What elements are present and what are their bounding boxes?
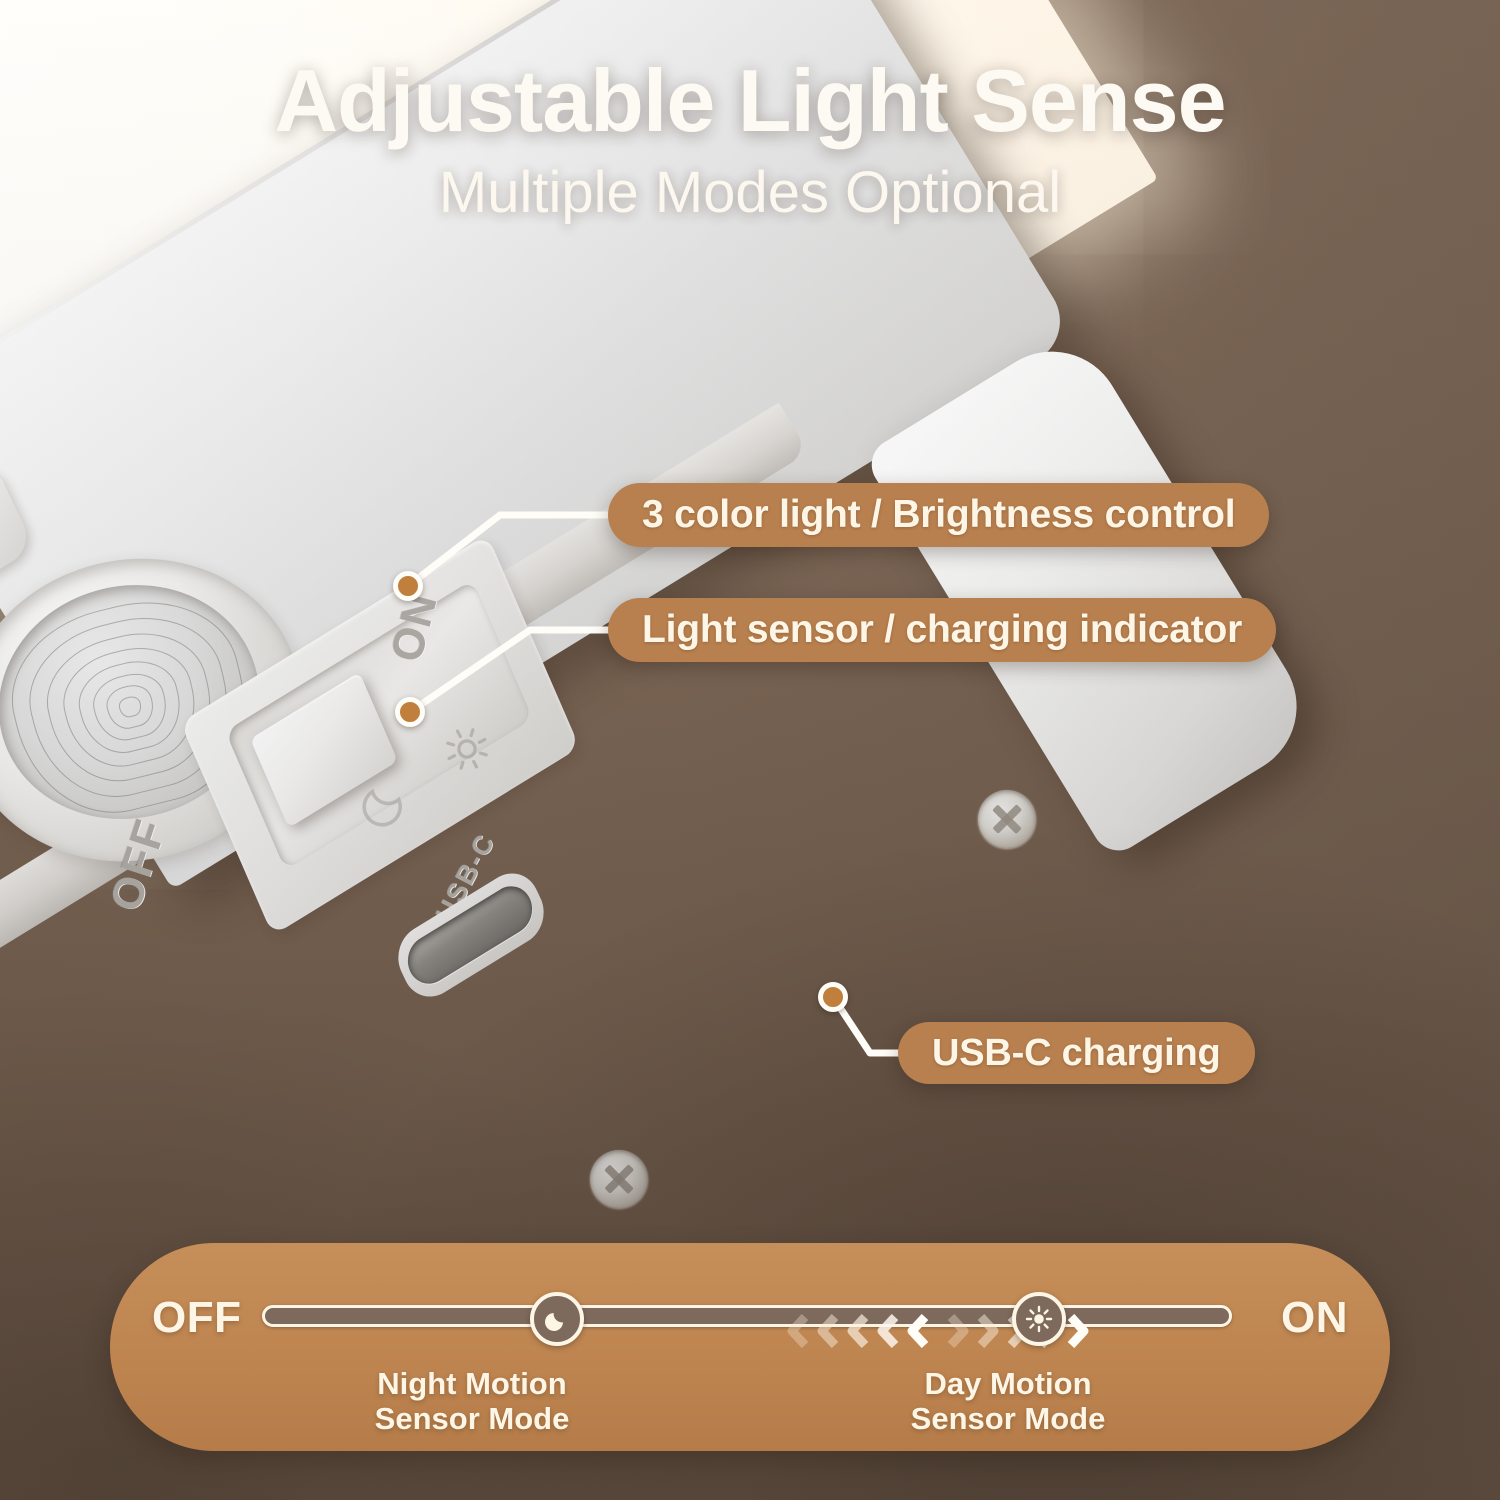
callout-label: Light sensor / charging indicator: [642, 608, 1242, 652]
callout-label: USB-C charging: [932, 1032, 1221, 1075]
chevron-right-icon: [945, 1314, 971, 1348]
chevron-left-group: [785, 1314, 931, 1348]
callout-light-sensor: Light sensor / charging indicator: [608, 598, 1276, 662]
page-title: Adjustable Light Sense: [0, 54, 1500, 147]
chevron-left-icon: [905, 1314, 931, 1348]
infographic-canvas: ON OFF USB-C Adjus: [0, 0, 1500, 1500]
slider-track[interactable]: [262, 1305, 1232, 1327]
callout-anchor-dot: [818, 982, 848, 1012]
chevron-right-icon: [975, 1314, 1001, 1348]
mode-slider[interactable]: OFF ON: [110, 1287, 1390, 1339]
phillips-screw-icon: [590, 1150, 648, 1208]
title-block: Adjustable Light Sense Multiple Modes Op…: [0, 54, 1500, 225]
callout-label: 3 color light / Brightness control: [642, 493, 1235, 537]
slider-marker-night[interactable]: [530, 1292, 584, 1346]
chevron-right-icon: [1065, 1314, 1091, 1348]
callout-anchor-dot: [395, 697, 425, 727]
chevron-left-icon: [815, 1314, 841, 1348]
moon-icon: [542, 1304, 572, 1334]
chevron-left-icon: [845, 1314, 871, 1348]
page-subtitle: Multiple Modes Optional: [0, 161, 1500, 225]
callout-usb-c: USB-C charging: [898, 1022, 1255, 1084]
mode-label-night: Night Motion Sensor Mode: [342, 1367, 602, 1436]
slider-on-label: ON: [1281, 1293, 1348, 1343]
mode-range-panel: OFF ON: [110, 1243, 1390, 1451]
sun-icon: [1023, 1303, 1055, 1335]
callout-anchor-dot: [393, 571, 423, 601]
phillips-screw-icon: [978, 790, 1036, 848]
chevron-left-icon: [875, 1314, 901, 1348]
callout-brightness: 3 color light / Brightness control: [608, 483, 1269, 547]
slider-off-label: OFF: [152, 1293, 241, 1343]
chevron-left-icon: [785, 1314, 811, 1348]
slider-marker-day[interactable]: [1012, 1292, 1066, 1346]
mode-label-day: Day Motion Sensor Mode: [878, 1367, 1138, 1436]
